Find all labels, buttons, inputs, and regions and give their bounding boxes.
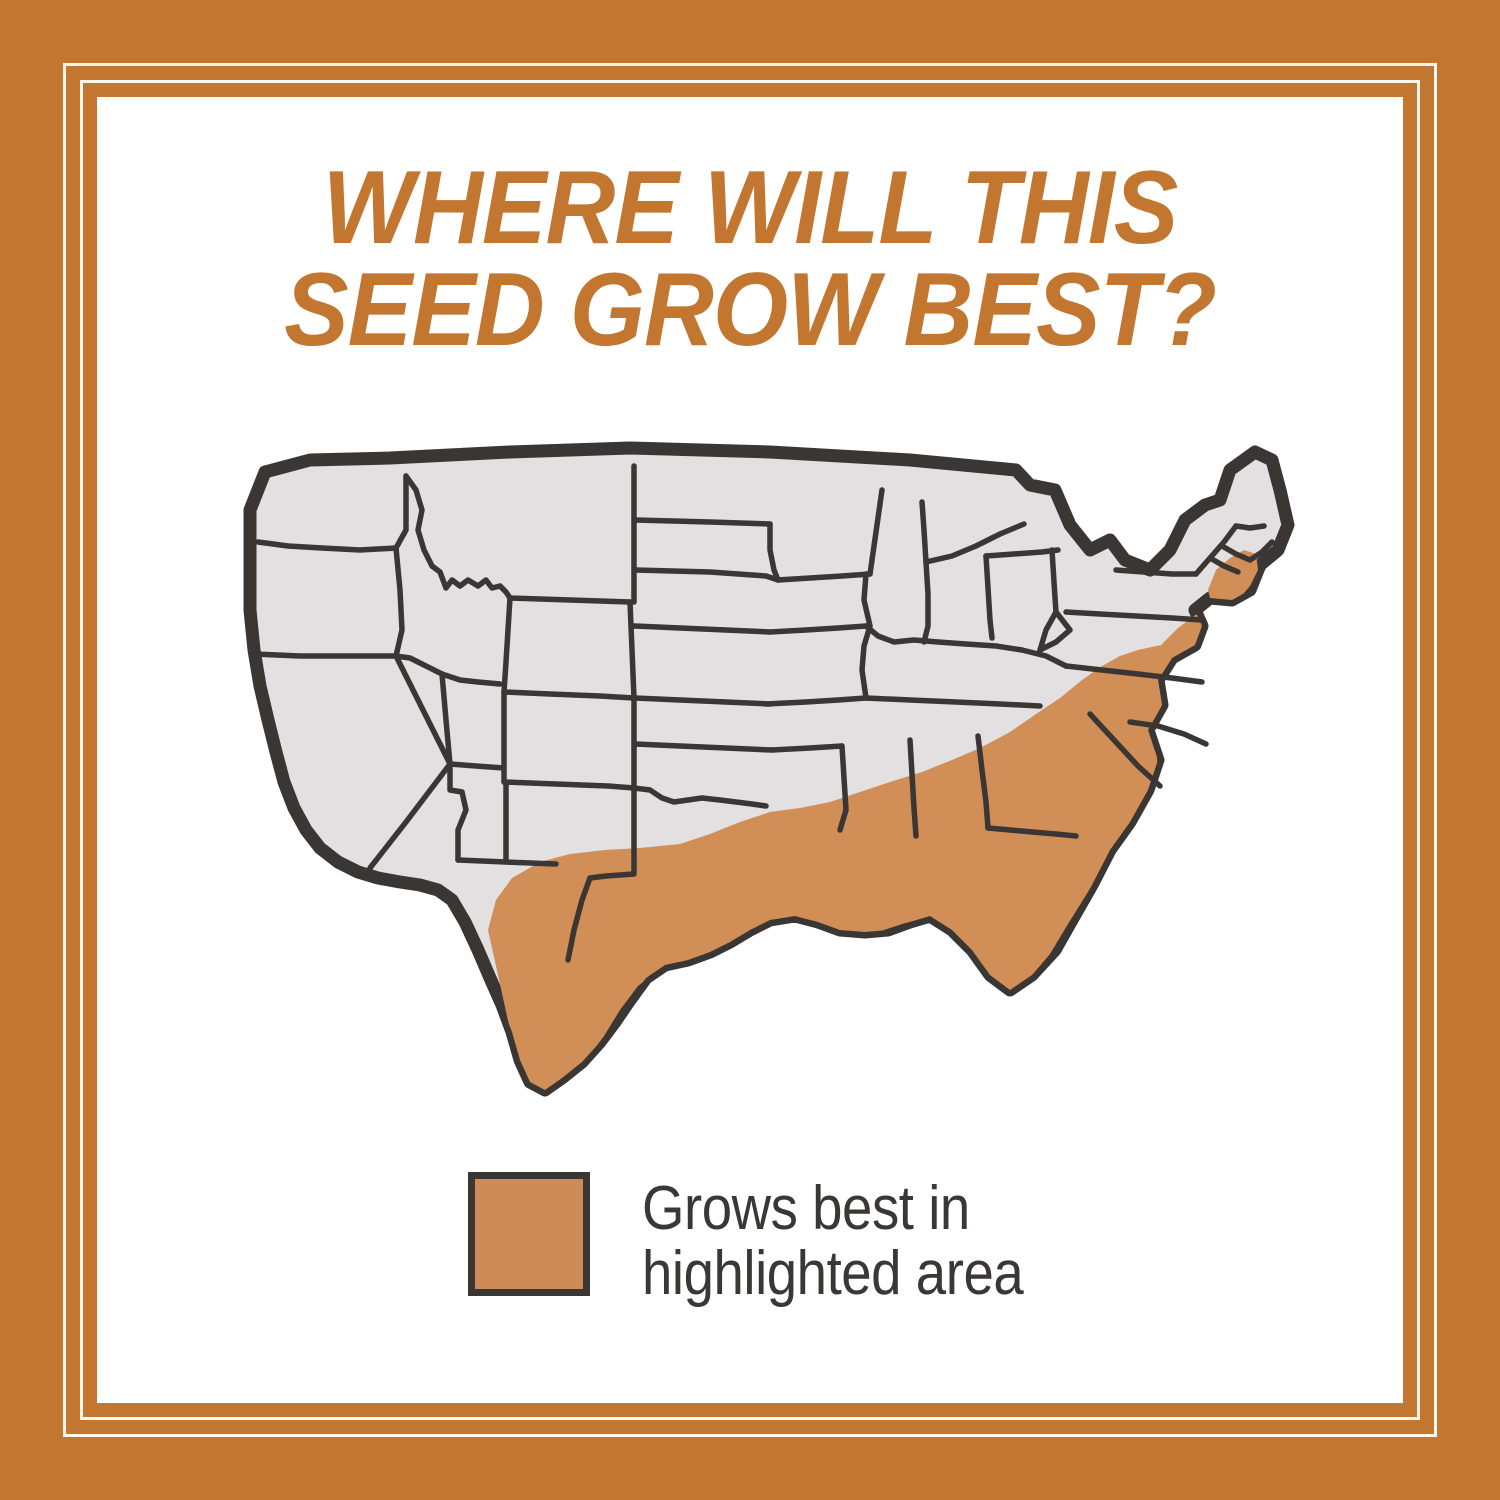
legend-label-line-2: highlighted area (642, 1241, 1023, 1306)
page-title-line-1: WHERE WILL THIS (192, 158, 1308, 260)
legend-label: Grows best in highlighted area (642, 1172, 1023, 1306)
united-states-map (210, 430, 1320, 1130)
map-legend: Grows best in highlighted area (468, 1172, 1075, 1306)
page-title: WHERE WILL THIS SEED GROW BEST? (150, 158, 1350, 362)
page-title-line-2: SEED GROW BEST? (192, 260, 1308, 362)
infographic-page: WHERE WILL THIS SEED GROW BEST? (0, 0, 1500, 1500)
legend-label-line-1: Grows best in (642, 1176, 1023, 1241)
legend-color-swatch (468, 1172, 590, 1296)
